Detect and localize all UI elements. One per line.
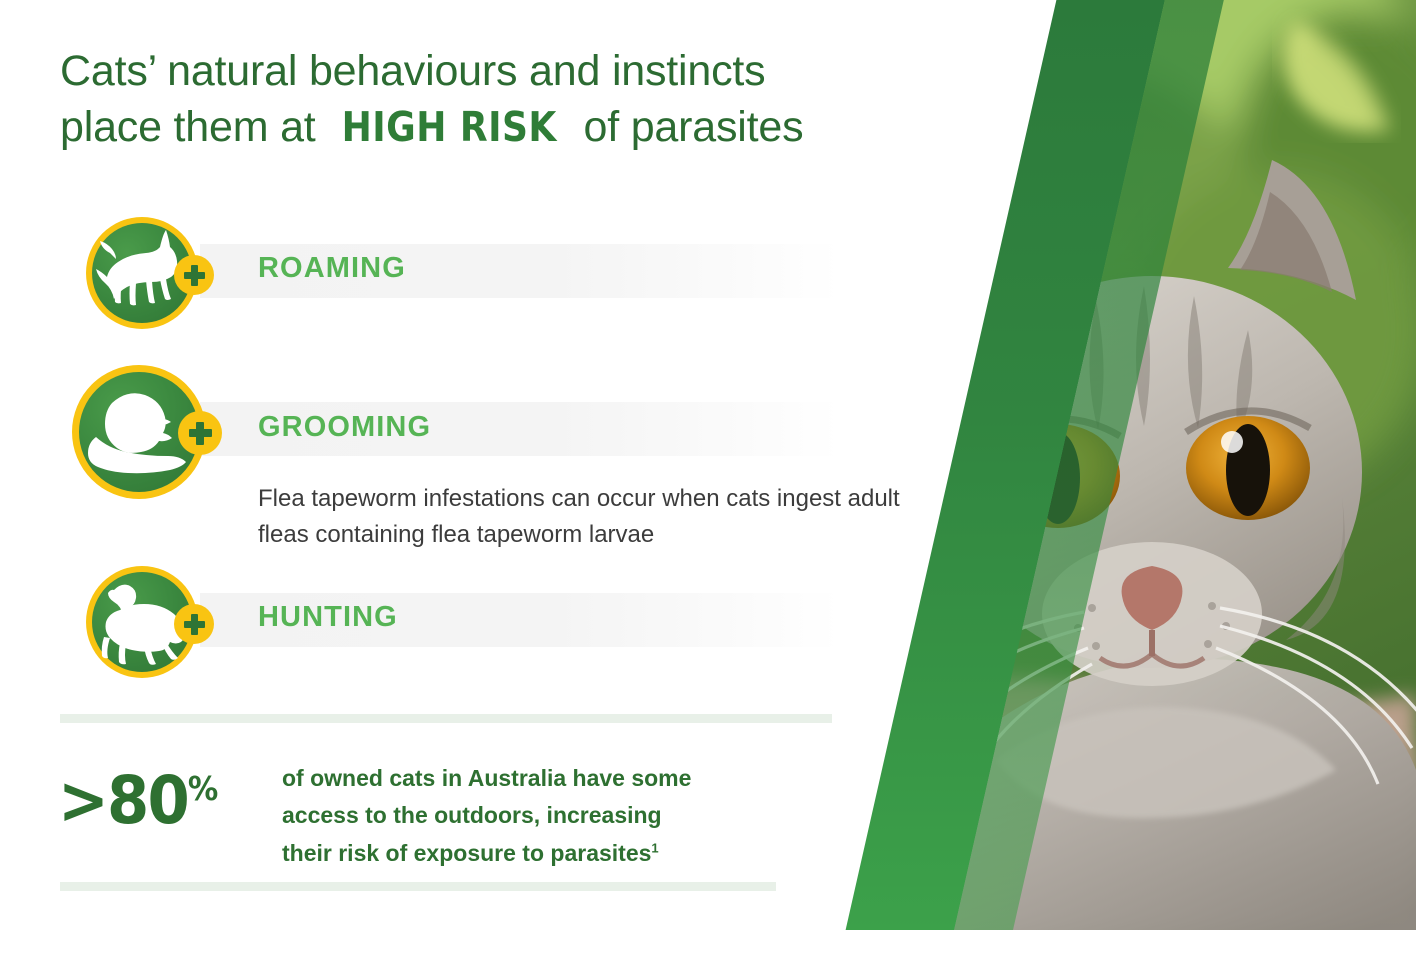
stat-rule-bottom (60, 882, 776, 891)
hunting-badge[interactable] (86, 566, 198, 678)
headline-line-2-prefix: place them at (60, 103, 327, 151)
grooming-description: Flea tapeworm infestations can occur whe… (258, 481, 938, 554)
stat-value: >80% (58, 762, 218, 839)
page-title: Cats’ natural behaviours and instincts p… (60, 44, 940, 156)
plus-icon (174, 255, 214, 295)
behaviour-label-grooming: GROOMING (258, 411, 431, 444)
plus-icon (174, 604, 214, 644)
headline-emphasis: HIGH RISK (342, 101, 557, 154)
infographic-page: Cats’ natural behaviours and instincts p… (0, 0, 1416, 958)
content-column: Cats’ natural behaviours and instincts p… (0, 0, 960, 958)
plus-icon (178, 411, 222, 455)
headline-line-2-suffix: of parasites (572, 103, 804, 151)
stat-number: >80 (58, 762, 188, 839)
stat-line-1: of owned cats in Australia have some (282, 765, 691, 791)
roaming-badge[interactable] (86, 217, 198, 329)
stat-line-2: access to the outdoors, increasing (282, 802, 662, 828)
headline-line-1: Cats’ natural behaviours and instincts (60, 47, 765, 95)
stat-description: of owned cats in Australia have some acc… (282, 760, 802, 872)
grooming-badge[interactable] (72, 365, 206, 499)
behaviour-label-roaming: ROAMING (258, 252, 406, 285)
stat-unit: % (188, 769, 218, 808)
stat-rule-top (60, 714, 832, 723)
stat-line-3: their risk of exposure to parasites (282, 840, 651, 866)
behaviour-label-hunting: HUNTING (258, 601, 398, 634)
footnote-marker: 1 (651, 840, 658, 855)
